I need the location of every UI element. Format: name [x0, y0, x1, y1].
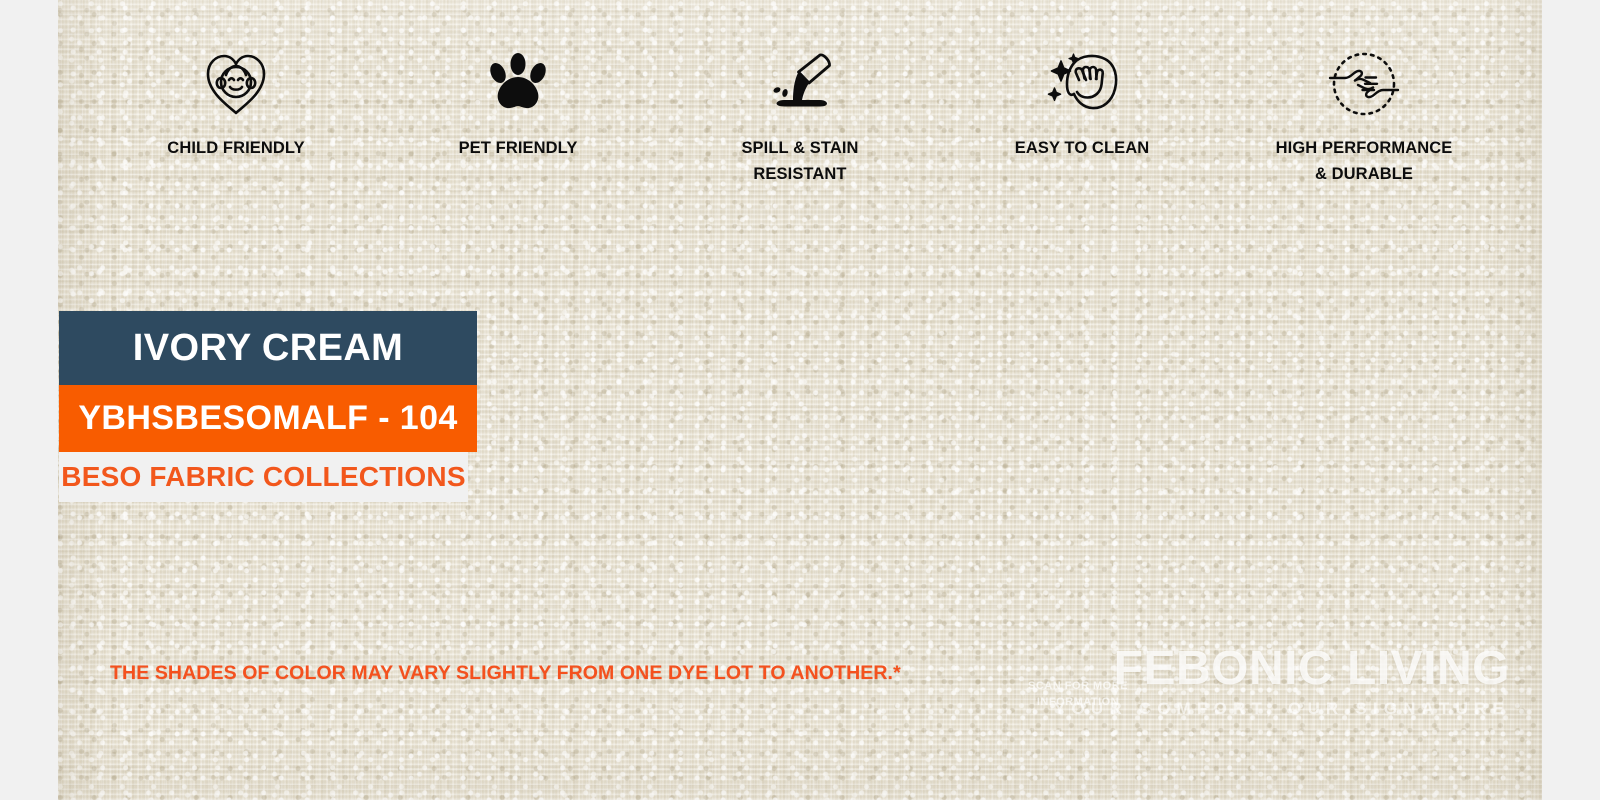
feature-easy-to-clean: EASY TO CLEAN [976, 46, 1188, 162]
paw-print-icon [484, 46, 552, 122]
feature-child-friendly: CHILD FRIENDLY [130, 46, 342, 162]
sku-code: YBHSBESOMALF - 104 [78, 399, 457, 438]
color-name: IVORY CREAM [133, 327, 403, 370]
color-name-band: IVORY CREAM [59, 311, 477, 385]
feature-label: HIGH PERFORMANCE & DURABLE [1276, 136, 1453, 187]
collection-band: BESO FABRIC COLLECTIONS [59, 452, 468, 502]
baby-face-in-heart-icon [200, 46, 272, 122]
swatch-label-block: IVORY CREAM YBHSBESOMALF - 104 BESO FABR… [59, 311, 477, 502]
feature-icon-strip: CHILD FRIENDLY PET FRIENDLY [58, 46, 1542, 206]
feature-label: EASY TO CLEAN [1015, 136, 1150, 162]
handshake-in-dotted-circle-icon [1324, 46, 1404, 122]
spilled-cup-icon [763, 46, 837, 122]
feature-label: PET FRIENDLY [459, 136, 578, 162]
feature-spill-stain-resistant: SPILL & STAIN RESISTANT [694, 46, 906, 187]
feature-high-performance-durable: HIGH PERFORMANCE & DURABLE [1258, 46, 1470, 187]
feature-label: SPILL & STAIN RESISTANT [741, 136, 858, 187]
dye-lot-disclaimer: THE SHADES OF COLOR MAY VARY SLIGHTLY FR… [110, 662, 901, 685]
feature-pet-friendly: PET FRIENDLY [412, 46, 624, 162]
hand-wiping-cloth-sparkle-icon [1043, 46, 1121, 122]
sku-band: YBHSBESOMALF - 104 [59, 385, 477, 452]
fabric-swatch-card: CHILD FRIENDLY PET FRIENDLY [0, 0, 1600, 800]
collection-name: BESO FABRIC COLLECTIONS [61, 461, 465, 493]
feature-label: CHILD FRIENDLY [167, 136, 304, 162]
